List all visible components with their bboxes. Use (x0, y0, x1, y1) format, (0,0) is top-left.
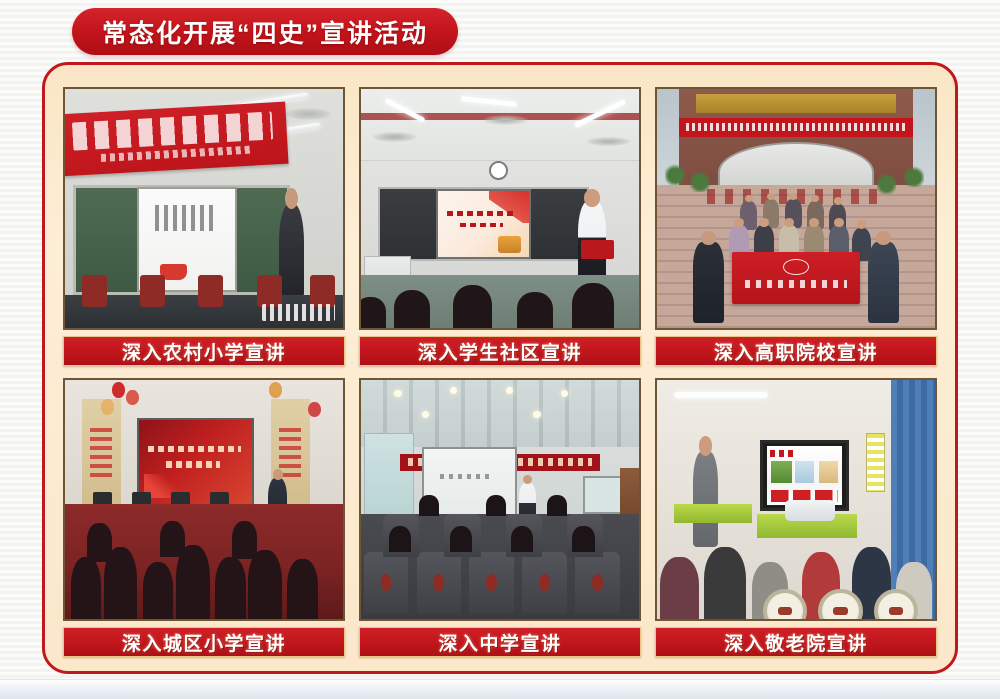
photo-urban-primary-school (65, 380, 343, 619)
caption-bar: 深入农村小学宣讲 (63, 336, 345, 366)
caption-bar: 深入城区小学宣讲 (63, 627, 345, 657)
caption-bar: 深入高职院校宣讲 (655, 336, 937, 366)
caption-bar: 深入学生社区宣讲 (359, 336, 641, 366)
caption-text: 深入敬老院宣讲 (724, 629, 868, 656)
photo-frame (359, 378, 641, 621)
gallery-item-vocational-college[interactable]: 深入高职院校宣讲 (655, 87, 937, 366)
photo-grid: 深入农村小学宣讲 (63, 87, 937, 657)
gallery-item-nursing-home[interactable]: 深入敬老院宣讲 (655, 378, 937, 657)
page-bottom-strip (0, 679, 1000, 699)
photo-rural-primary-school (65, 89, 343, 328)
photo-student-community (361, 89, 639, 328)
caption-bar: 深入中学宣讲 (359, 627, 641, 657)
photo-frame (359, 87, 641, 330)
caption-text: 深入城区小学宣讲 (122, 629, 286, 656)
caption-text: 深入高职院校宣讲 (714, 338, 878, 365)
caption-bar: 深入敬老院宣讲 (655, 627, 937, 657)
caption-text: 深入农村小学宣讲 (122, 338, 286, 365)
photo-middle-school (361, 380, 639, 619)
photo-nursing-home (657, 380, 935, 619)
photo-frame (655, 378, 937, 621)
photo-frame (63, 378, 345, 621)
gallery-item-urban-primary-school[interactable]: 深入城区小学宣讲 (63, 378, 345, 657)
photo-frame (63, 87, 345, 330)
page-title-text: 常态化开展“四史”宣讲活动 (102, 14, 428, 50)
caption-text: 深入中学宣讲 (438, 629, 561, 656)
photo-frame (655, 87, 937, 330)
page-title-banner: 常态化开展“四史”宣讲活动 (72, 8, 458, 55)
gallery-item-middle-school[interactable]: 深入中学宣讲 (359, 378, 641, 657)
gallery-item-student-community[interactable]: 深入学生社区宣讲 (359, 87, 641, 366)
photo-gallery-card: 深入农村小学宣讲 (42, 62, 958, 674)
gallery-item-rural-primary-school[interactable]: 深入农村小学宣讲 (63, 87, 345, 366)
photo-vocational-college (657, 89, 935, 328)
caption-text: 深入学生社区宣讲 (418, 338, 582, 365)
